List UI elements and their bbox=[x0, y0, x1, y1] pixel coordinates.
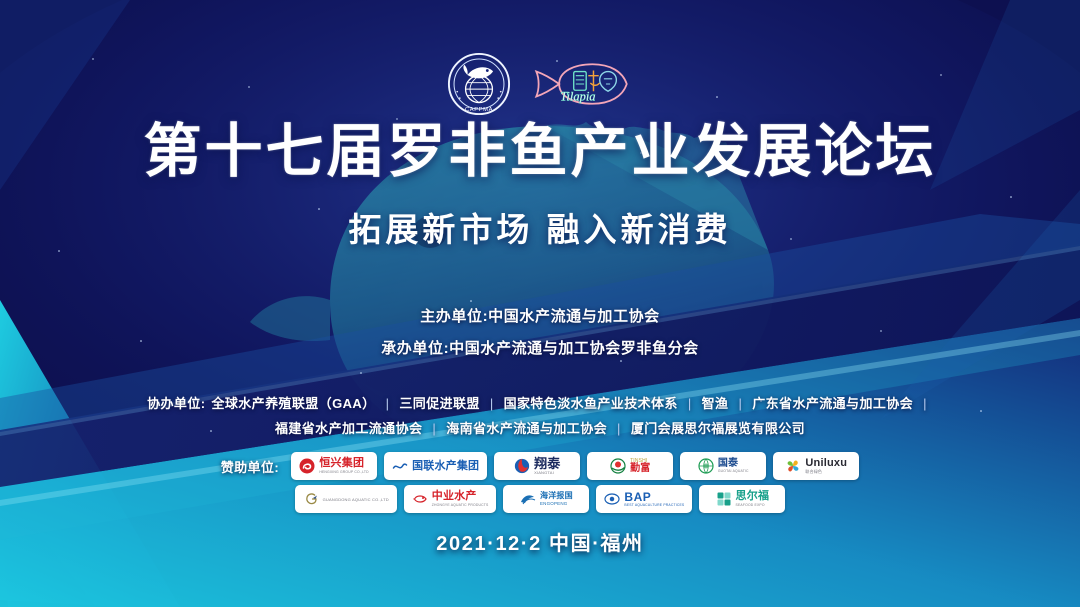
sponsor-name: 翔泰 bbox=[534, 457, 560, 470]
sponsor-logo-hengxing: 恒兴集团 HENGXING GROUP CO.,LTD bbox=[291, 452, 377, 480]
swirl-icon bbox=[299, 458, 315, 474]
sponsor-logo-seafu: 思尔福 SEAFOOD EXPO bbox=[699, 485, 785, 513]
fish-red-icon bbox=[412, 491, 428, 507]
coorganizer-item: 国家特色淡水鱼产业技术体系 bbox=[504, 396, 678, 411]
sponsor-name: 海洋报国 bbox=[540, 492, 573, 500]
coorganizer-section: 协办单位: 全球水产养殖联盟（GAA） | 三同促进联盟 | 国家特色淡水鱼产业… bbox=[0, 392, 1080, 441]
sponsor-name: 思尔福 bbox=[736, 491, 770, 502]
sponsor-logo-guangdong-aquatic: GUANGDONG AQUATIC CO.,LTD bbox=[295, 485, 397, 513]
sponsor-name-en: ZHONGYE AQUATIC PRODUCTS bbox=[432, 504, 489, 507]
globe-green-icon bbox=[698, 458, 714, 474]
coorganizer-item: 广东省水产流通与加工协会 bbox=[752, 396, 913, 411]
title-section: 第十七届罗非鱼产业发展论坛 拓展新市场 融入新消费 bbox=[0, 120, 1080, 251]
sponsor-section: 赞助单位: 恒兴集团 HENGXING GROUP CO.,LTD 国联水产集团 bbox=[0, 452, 1080, 518]
svg-text:Tilapia: Tilapia bbox=[560, 90, 595, 104]
sponsor-row-2: GUANGDONG AQUATIC CO.,LTD 中业水产 ZHONGYE A… bbox=[0, 485, 1080, 513]
bap-eye-icon bbox=[604, 491, 620, 507]
sponsor-logo-zhongye: 中业水产 ZHONGYE AQUATIC PRODUCTS bbox=[404, 485, 497, 513]
sponsor-name: Uniluxu bbox=[805, 458, 847, 469]
poster-canvas: CAPPMA Tilapia 第十七届罗非鱼产业发展论坛 拓展新市场 融入新消费… bbox=[0, 0, 1080, 607]
sponsor-logo-guotai: 国泰 GUOTAI AQUATIC bbox=[680, 452, 766, 480]
sub-title: 拓展新市场 融入新消费 bbox=[0, 203, 1080, 251]
sponsor-name: 中业水产 bbox=[432, 491, 489, 502]
sponsor-logo-xiangtai: 翔泰 XIANGTAI bbox=[494, 452, 580, 480]
executive-organizer-line: 承办单位:中国水产流通与加工协会罗非鱼分会 bbox=[0, 337, 1080, 358]
coorganizer-line-1: 协办单位: 全球水产养殖联盟（GAA） | 三同促进联盟 | 国家特色淡水鱼产业… bbox=[0, 392, 1080, 417]
header-logo-row: CAPPMA Tilapia bbox=[0, 52, 1080, 116]
svg-text:CAPPMA: CAPPMA bbox=[465, 107, 493, 113]
sponsor-label: 赞助单位: bbox=[221, 457, 279, 476]
wave-blue-icon bbox=[520, 491, 536, 507]
sponsor-logo-guolian: 国联水产集团 bbox=[384, 452, 487, 480]
sponsor-logo-uniluxu: Uniluxu 联合绿色 bbox=[773, 452, 859, 480]
sponsor-name-en: ENGOPENG bbox=[540, 502, 573, 507]
sponsor-logo-engopeng: 海洋报国 ENGOPENG bbox=[503, 485, 589, 513]
pinwheel-icon bbox=[785, 458, 801, 474]
coorganizer-line-2: 福建省水产加工流通协会 | 海南省水产流通与加工协会 | 厦门会展思尔福展览有限… bbox=[0, 417, 1080, 442]
sponsor-name-en: BEST AQUACULTURE PRACTICES bbox=[624, 504, 684, 507]
sponsor-name: BAP bbox=[624, 491, 684, 503]
separator-icon: | bbox=[617, 421, 621, 436]
cappma-emblem-icon: CAPPMA bbox=[447, 52, 511, 116]
sponsor-name: 国联水产集团 bbox=[412, 461, 479, 472]
separator-icon: | bbox=[923, 396, 927, 411]
sponsor-name-en: 联合绿色 bbox=[805, 470, 847, 474]
teal-squares-icon bbox=[716, 491, 732, 507]
separator-icon: | bbox=[738, 396, 742, 411]
sponsor-name-en: HENGXING GROUP CO.,LTD bbox=[319, 471, 368, 474]
main-title: 第十七届罗非鱼产业发展论坛 bbox=[0, 120, 1080, 185]
sponsor-name: 恒兴集团 bbox=[319, 458, 368, 469]
separator-icon: | bbox=[432, 421, 436, 436]
separator-icon: | bbox=[490, 396, 494, 411]
organizer-section: 主办单位:中国水产流通与加工协会 承办单位:中国水产流通与加工协会罗非鱼分会 bbox=[0, 305, 1080, 369]
sponsor-logo-bap: BAP BEST AQUACULTURE PRACTICES bbox=[596, 485, 692, 513]
sponsor-name-en: SEAFOOD EXPO bbox=[736, 504, 770, 507]
g-arc-icon bbox=[303, 491, 319, 507]
separator-icon: | bbox=[386, 396, 390, 411]
coorganizer-item: 厦门会展思尔福展览有限公司 bbox=[631, 421, 805, 436]
sponsor-name: 勤富 bbox=[630, 464, 650, 474]
circle-red-blue-icon bbox=[514, 458, 530, 474]
sponsor-name-en: XIANGTAI bbox=[534, 471, 560, 475]
coorganizer-label: 协办单位: bbox=[147, 396, 205, 411]
coorganizer-item: 全球水产养殖联盟（GAA） bbox=[211, 396, 375, 411]
sponsor-logo-qinfu: TINSHI 勤富 bbox=[587, 452, 673, 480]
wave-icon bbox=[392, 458, 408, 474]
coorganizer-item: 三同促进联盟 bbox=[399, 396, 479, 411]
date-location-line: 2021·12·2 中国·福州 bbox=[0, 527, 1080, 556]
coorganizer-item: 福建省水产加工流通协会 bbox=[275, 421, 422, 436]
tilapia-logo-icon: Tilapia bbox=[529, 58, 633, 110]
sponsor-name: 国泰 bbox=[718, 459, 749, 469]
host-organizer-line: 主办单位:中国水产流通与加工协会 bbox=[0, 305, 1080, 326]
leaf-sun-icon bbox=[610, 458, 626, 474]
coorganizer-item: 海南省水产流通与加工协会 bbox=[446, 421, 607, 436]
coorganizer-item: 智渔 bbox=[702, 396, 729, 411]
separator-icon: | bbox=[688, 396, 692, 411]
sponsor-name-en: GUOTAI AQUATIC bbox=[718, 470, 749, 473]
sponsor-name-en: GUANGDONG AQUATIC CO.,LTD bbox=[323, 498, 389, 502]
sponsor-row-1: 赞助单位: 恒兴集团 HENGXING GROUP CO.,LTD 国联水产集团 bbox=[0, 452, 1080, 480]
